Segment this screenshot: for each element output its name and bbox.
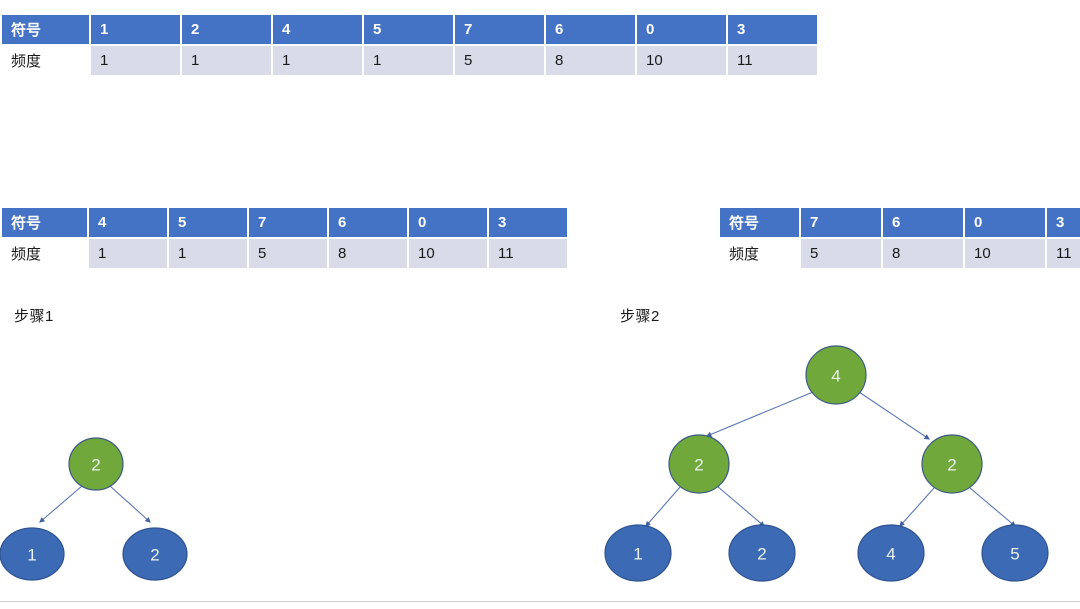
tree-node-root: 4 [806,346,866,404]
table-data-cell: 11 [1046,238,1080,268]
table-row: 符号 4 5 7 6 0 3 [1,208,568,238]
table-row: 符号 7 6 0 3 [719,208,1080,238]
table-header-cell: 5 [168,208,248,238]
table-header-cell: 4 [88,208,168,238]
step1-caption: 步骤1 [14,305,54,326]
table-header-cell: 4 [272,15,363,45]
step1-frequency-table: 符号 4 5 7 6 0 3 频度 1 1 5 8 10 11 [0,208,569,268]
table-data-cell: 5 [248,238,328,268]
tree-edge [859,392,929,439]
tree-node-label: 2 [757,545,766,564]
tree-node-leaf: 2 [729,525,795,581]
slide-canvas: 符号 1 2 4 5 7 6 0 3 频度 1 1 1 1 5 8 10 11 … [0,0,1080,609]
table-header-cell: 6 [882,208,964,238]
tree-node-leaf: 1 [0,528,64,580]
step2-frequency-table: 符号 7 6 0 3 频度 5 8 10 11 [718,208,1080,268]
tree-node-label: 2 [694,456,703,475]
tree-node-root: 2 [69,438,123,490]
table-header-cell: 7 [248,208,328,238]
bottom-divider [0,601,1080,602]
tree-node-label: 4 [831,367,840,386]
table-data-cell: 1 [181,45,272,75]
table-header-cell: 1 [90,15,181,45]
tree-node-label: 2 [91,456,100,475]
table-data-cell: 1 [272,45,363,75]
table-header-label: 符号 [1,208,88,238]
table-data-cell: 11 [488,238,568,268]
table-data-cell: 1 [168,238,248,268]
table-header-cell: 0 [636,15,727,45]
tree-edge [970,488,1015,526]
table-header-cell: 5 [363,15,454,45]
table-header-cell: 7 [454,15,545,45]
tree-node-label: 4 [886,545,895,564]
table-data-cell: 1 [88,238,168,268]
initial-frequency-table: 符号 1 2 4 5 7 6 0 3 频度 1 1 1 1 5 8 10 11 [0,15,819,75]
table-data-cell: 11 [727,45,818,75]
table-header-cell: 7 [800,208,882,238]
table-header-label: 符号 [1,15,90,45]
table-row-label: 频度 [1,238,88,268]
tree-edge [717,486,764,526]
table-header-cell: 3 [1046,208,1080,238]
table-row-label: 频度 [719,238,800,268]
table-header-cell: 3 [727,15,818,45]
tree-node-leaf: 4 [858,525,924,581]
tree-edge [40,486,82,522]
tree-node-leaf: 2 [123,528,187,580]
tree-edge [646,486,681,526]
table-header-cell: 3 [488,208,568,238]
table-data-cell: 1 [90,45,181,75]
table-row: 频度 5 8 10 11 [719,238,1080,268]
tree-node-label: 2 [150,546,159,565]
table-header-cell: 6 [328,208,408,238]
table-header-label: 符号 [719,208,800,238]
table-data-cell: 8 [882,238,964,268]
tree-node-label: 1 [633,545,642,564]
tree-node-internal: 2 [922,435,982,493]
step1-huffman-tree: 2 1 2 [0,420,206,600]
tree-edge [900,488,934,526]
tree-edge [707,392,813,436]
table-data-cell: 5 [454,45,545,75]
step2-caption: 步骤2 [620,305,660,326]
table-header-cell: 0 [408,208,488,238]
tree-edge [110,486,150,522]
step2-huffman-tree: 4 2 2 1 2 4 [590,336,1080,604]
tree-node-label: 1 [27,546,36,565]
tree-node-label: 5 [1010,545,1019,564]
table-header-cell: 0 [964,208,1046,238]
table-data-cell: 8 [328,238,408,268]
table-data-cell: 8 [545,45,636,75]
table-row: 频度 1 1 1 1 5 8 10 11 [1,45,818,75]
tree-node-internal: 2 [669,435,729,493]
table-data-cell: 10 [964,238,1046,268]
tree-node-leaf: 1 [605,525,671,581]
table-data-cell: 5 [800,238,882,268]
table-data-cell: 10 [408,238,488,268]
table-row-label: 频度 [1,45,90,75]
table-row: 频度 1 1 5 8 10 11 [1,238,568,268]
table-data-cell: 1 [363,45,454,75]
tree-node-leaf: 5 [982,525,1048,581]
table-header-cell: 2 [181,15,272,45]
tree-node-label: 2 [947,456,956,475]
table-data-cell: 10 [636,45,727,75]
table-row: 符号 1 2 4 5 7 6 0 3 [1,15,818,45]
table-header-cell: 6 [545,15,636,45]
